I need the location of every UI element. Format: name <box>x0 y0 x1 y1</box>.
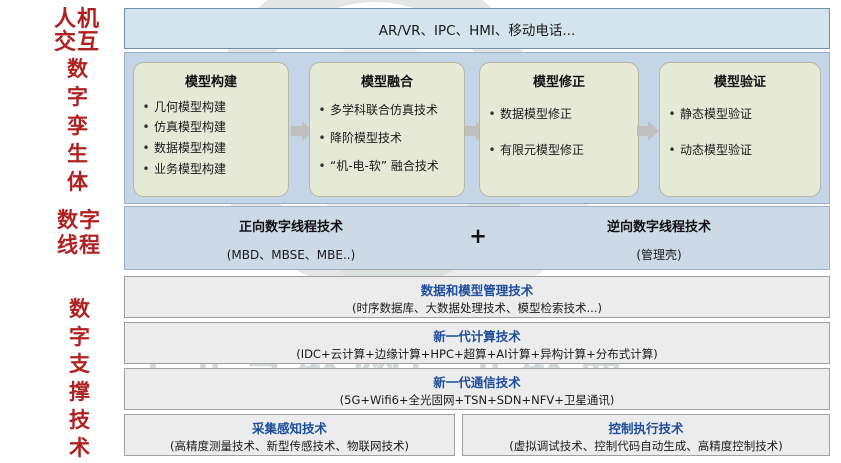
model-box-item-list: •多学科联合仿真技术 •降阶模型技术 •“机-电-软” 融合技术 <box>314 97 460 180</box>
arrow-right-icon-3 <box>637 121 659 141</box>
model-box-item-list: •静态模型验证 •动态模型验证 <box>664 97 816 169</box>
list-item-label: “机-电-软” 融合技术 <box>330 160 439 174</box>
bullet-icon: • <box>138 142 154 156</box>
bullet-icon: • <box>314 132 330 146</box>
human-machine-interaction-banner: AR/VR、IPC、HMI、移动电话... <box>124 8 830 49</box>
thread-reverse-subtitle: (管理壳) <box>509 246 809 263</box>
model-box-title: 模型验证 <box>664 71 816 90</box>
bullet-icon: • <box>138 121 154 135</box>
sidebar-label-thread-line1: 数字 <box>48 208 110 233</box>
support-row-title: 采集感知技术 <box>125 421 454 437</box>
support-row-data-model-management: 数据和模型管理技术 (时序数据库、大数据处理技术、模型检索技术...) <box>124 276 830 318</box>
sidebar-label-twin-char-3: 生 <box>58 140 98 168</box>
list-item-label: 降阶模型技术 <box>330 132 402 146</box>
support-row-subtitle: (高精度测量技术、新型传感技术、物联网技术) <box>125 439 454 454</box>
sidebar-item-digital-twin-body: 数 字 孪 生 体 <box>58 55 98 197</box>
bullet-icon: • <box>138 163 154 177</box>
sidebar-label-hci-line2: 交互 <box>45 31 109 54</box>
digital-twin-panel: 模型构建 •几何模型构建 •仿真模型构建 •数据模型构建 •业务模型构建 模型融… <box>124 52 830 204</box>
support-row-next-gen-communication: 新一代通信技术 (5G+Wifi6+全光固网+TSN+SDN+NFV+卫星通讯) <box>124 368 830 410</box>
sidebar-label-twin-char-0: 数 <box>58 55 98 83</box>
sidebar-item-digital-thread: 数字 线程 <box>48 208 110 258</box>
list-item-label: 几何模型构建 <box>154 101 226 115</box>
support-row-title: 新一代计算技术 <box>125 329 829 345</box>
list-item: •静态模型验证 <box>664 97 816 133</box>
support-row-acquisition-sensing: 采集感知技术 (高精度测量技术、新型传感技术、物联网技术) <box>124 414 455 456</box>
list-item: •业务模型构建 <box>138 159 284 180</box>
list-item: •仿真模型构建 <box>138 118 284 139</box>
list-item-label: 数据模型修正 <box>500 108 572 122</box>
list-item: •降阶模型技术 <box>314 125 460 153</box>
thread-reverse-group: 逆向数字线程技术 (管理壳) <box>509 216 809 263</box>
model-box-item-list: •数据模型修正 •有限元模型修正 <box>484 97 634 169</box>
bullet-icon: • <box>484 144 500 158</box>
sidebar-label-thread-line2: 线程 <box>48 233 110 258</box>
banner-text: AR/VR、IPC、HMI、移动电话... <box>379 19 575 39</box>
sidebar-label-support-char-5: 术 <box>62 435 98 463</box>
list-item: •多学科联合仿真技术 <box>314 97 460 125</box>
model-box-title: 模型融合 <box>314 71 460 90</box>
support-row-control-execution: 控制执行技术 (虚拟调试技术、控制代码自动生成、高精度控制技术) <box>462 414 830 456</box>
model-box-model-correction: 模型修正 •数据模型修正 •有限元模型修正 <box>479 62 639 197</box>
support-row-title: 新一代通信技术 <box>125 375 829 391</box>
list-item-label: 动态模型验证 <box>680 144 752 158</box>
thread-forward-group: 正向数字线程技术 (MBD、MBSE、MBE..) <box>141 216 441 263</box>
sidebar-label-support-char-2: 支 <box>62 351 98 379</box>
sidebar-label-support-char-0: 数 <box>62 296 98 324</box>
support-row-subtitle: (IDC+云计算+边缘计算+HPC+超算+AI计算+异构计算+分布式计算) <box>125 347 829 362</box>
list-item: •有限元模型修正 <box>484 133 634 169</box>
model-box-item-list: •几何模型构建 •仿真模型构建 •数据模型构建 •业务模型构建 <box>138 97 284 180</box>
list-item-label: 仿真模型构建 <box>154 121 226 135</box>
plus-icon: + <box>458 224 498 248</box>
model-box-row: 模型构建 •几何模型构建 •仿真模型构建 •数据模型构建 •业务模型构建 模型融… <box>125 53 831 205</box>
support-row-subtitle: (5G+Wifi6+全光固网+TSN+SDN+NFV+卫星通讯) <box>125 393 829 408</box>
sidebar-label-twin-char-4: 体 <box>58 168 98 196</box>
sidebar-label-twin-char-2: 孪 <box>58 112 98 140</box>
support-row-title: 控制执行技术 <box>463 421 829 437</box>
digital-thread-panel: 正向数字线程技术 (MBD、MBSE、MBE..) + 逆向数字线程技术 (管理… <box>124 206 830 270</box>
sidebar-label-support-char-1: 字 <box>62 324 98 352</box>
diagram-root: 人机 交互 数 字 孪 生 体 数字 线程 数 字 支 撑 技 术 AR/VR、… <box>0 0 841 463</box>
list-item-label: 数据模型构建 <box>154 142 226 156</box>
thread-forward-subtitle: (MBD、MBSE、MBE..) <box>141 246 441 263</box>
list-item: •动态模型验证 <box>664 133 816 169</box>
model-box-model-fusion: 模型融合 •多学科联合仿真技术 •降阶模型技术 •“机-电-软” 融合技术 <box>309 62 465 197</box>
bullet-icon: • <box>314 104 330 118</box>
sidebar-layer-labels: 人机 交互 数 字 孪 生 体 数字 线程 数 字 支 撑 技 术 <box>0 0 118 463</box>
support-row-subtitle: (虚拟调试技术、控制代码自动生成、高精度控制技术) <box>463 439 829 454</box>
sidebar-label-twin-char-1: 字 <box>58 83 98 111</box>
thread-reverse-title: 逆向数字线程技术 <box>509 216 809 235</box>
list-item: •几何模型构建 <box>138 97 284 118</box>
sidebar-label-support-char-3: 撑 <box>62 379 98 407</box>
bullet-icon: • <box>484 108 500 122</box>
list-item: •数据模型构建 <box>138 139 284 160</box>
list-item-label: 静态模型验证 <box>680 108 752 122</box>
bullet-icon: • <box>138 101 154 115</box>
list-item: •“机-电-软” 融合技术 <box>314 153 460 181</box>
sidebar-label-support-char-4: 技 <box>62 407 98 435</box>
list-item-label: 有限元模型修正 <box>500 144 584 158</box>
model-box-model-construction: 模型构建 •几何模型构建 •仿真模型构建 •数据模型构建 •业务模型构建 <box>133 62 289 197</box>
support-row-next-gen-computing: 新一代计算技术 (IDC+云计算+边缘计算+HPC+超算+AI计算+异构计算+分… <box>124 322 830 364</box>
model-box-model-verification: 模型验证 •静态模型验证 •动态模型验证 <box>659 62 821 197</box>
sidebar-item-human-machine-interaction: 人机 交互 <box>45 8 109 55</box>
sidebar-item-digital-support-technology: 数 字 支 撑 技 术 <box>62 296 98 462</box>
list-item: •数据模型修正 <box>484 97 634 133</box>
bullet-icon: • <box>664 144 680 158</box>
bullet-icon: • <box>314 160 330 174</box>
bullet-icon: • <box>664 108 680 122</box>
model-box-title: 模型修正 <box>484 71 634 90</box>
model-box-title: 模型构建 <box>138 71 284 90</box>
list-item-label: 多学科联合仿真技术 <box>330 104 438 118</box>
sidebar-label-hci-line1: 人机 <box>45 8 109 31</box>
support-row-subtitle: (时序数据库、大数据处理技术、模型检索技术...) <box>125 301 829 316</box>
list-item-label: 业务模型构建 <box>154 163 226 177</box>
thread-forward-title: 正向数字线程技术 <box>141 216 441 235</box>
support-row-title: 数据和模型管理技术 <box>125 283 829 299</box>
